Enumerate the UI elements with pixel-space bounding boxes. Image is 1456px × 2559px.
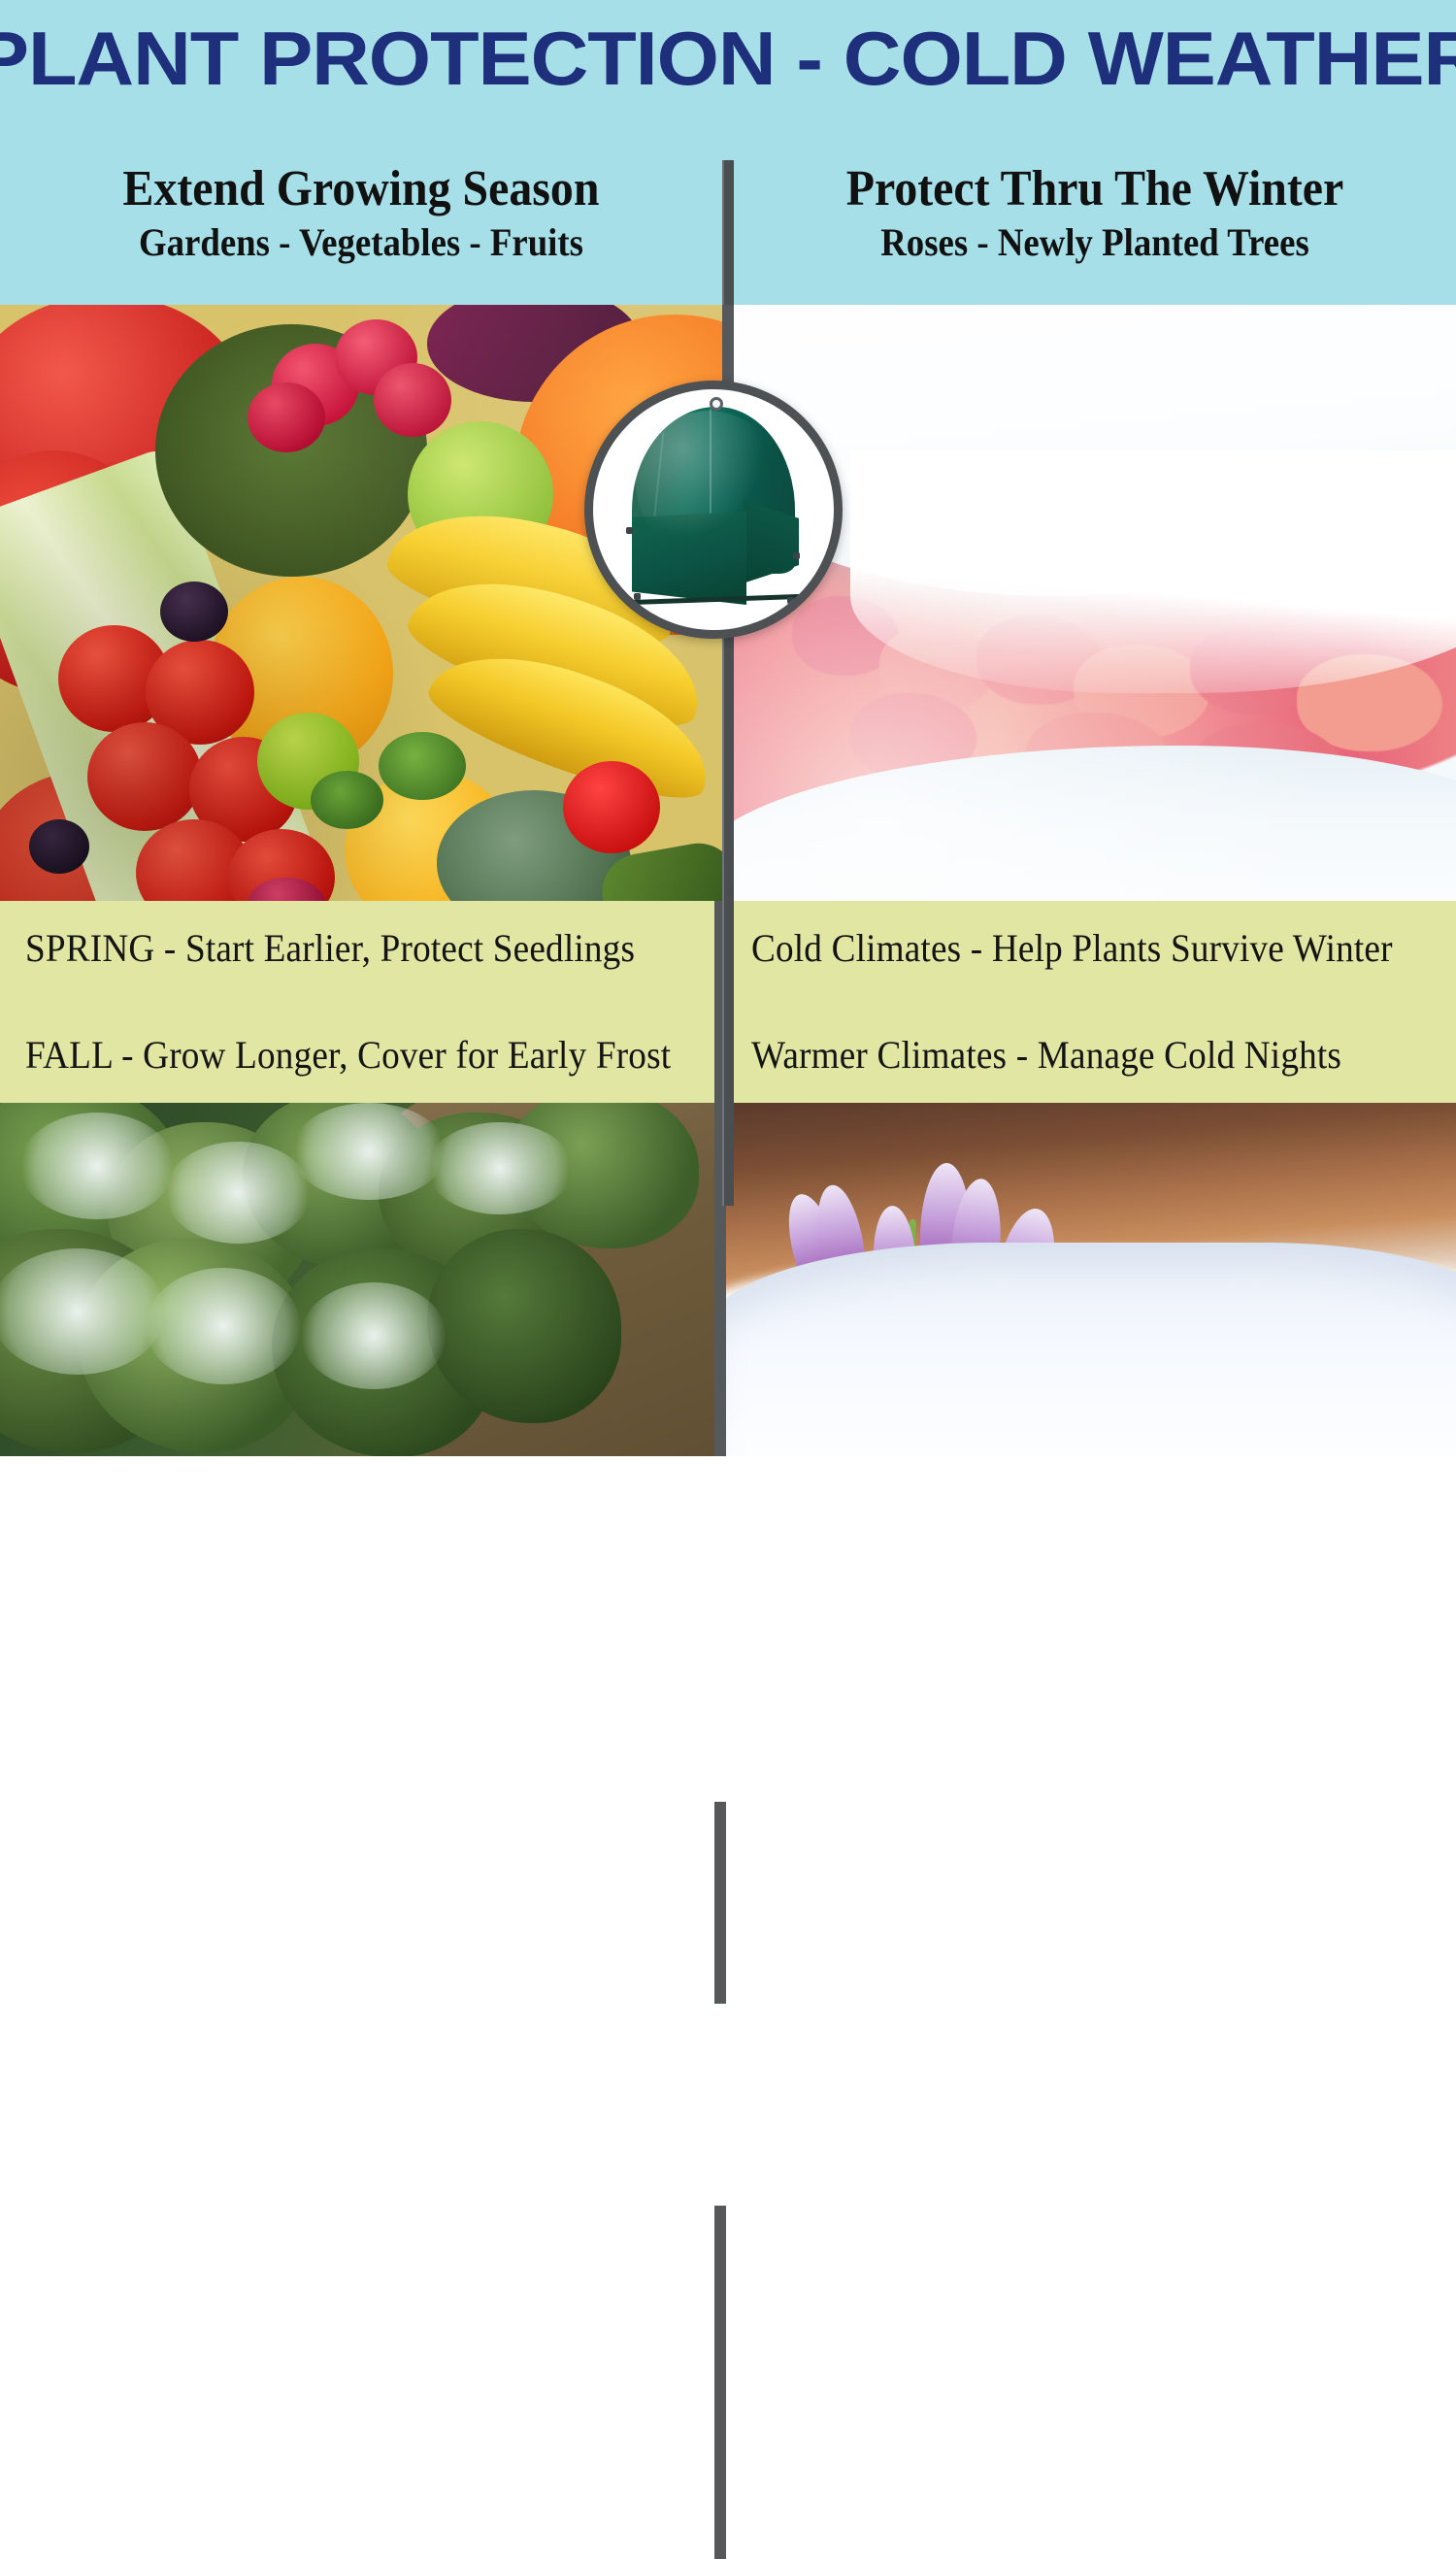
benefit-band-divider — [714, 1802, 726, 2004]
header-column-left: Extend Growing Season Gardens - Vegetabl… — [0, 161, 722, 266]
frost-cabbage-scene — [0, 1103, 714, 1456]
photo-frost-cabbage — [0, 1103, 714, 1456]
crocus-snow-scene — [726, 1103, 1456, 1456]
produce-collage — [0, 305, 722, 901]
header-left-heading: Extend Growing Season — [29, 161, 693, 217]
header-right-heading: Protect Thru The Winter — [763, 161, 1427, 217]
header-band: PLANT PROTECTION - COLD WEATHER Extend G… — [0, 0, 1456, 305]
header-left-subheading: Gardens - Vegetables - Fruits — [29, 219, 693, 266]
plant-cover-tent-icon — [616, 407, 811, 601]
photo-snow-hydrangea — [734, 305, 1456, 901]
header-vertical-divider — [722, 160, 734, 305]
bottom-vertical-divider — [714, 2206, 726, 2559]
photo-crocus-snow — [726, 1103, 1456, 1456]
benefit-right-line-2: Warmer Climates - Manage Cold Nights — [751, 1033, 1383, 1078]
benefit-column-right: Cold Climates - Help Plants Survive Wint… — [726, 901, 1456, 1103]
hanging-ring-icon — [710, 397, 723, 411]
header-right-subheading: Roses - Newly Planted Trees — [763, 219, 1427, 266]
top-vertical-divider — [722, 610, 734, 1206]
benefit-column-left: SPRING - Start Earlier, Protect Seedling… — [0, 901, 714, 1103]
hydrangea-scene — [734, 305, 1456, 901]
product-inset-circle — [584, 381, 843, 639]
photo-fresh-produce — [0, 305, 722, 901]
header-column-right: Protect Thru The Winter Roses - Newly Pl… — [734, 161, 1456, 266]
page-title: PLANT PROTECTION - COLD WEATHER — [0, 19, 1456, 99]
infographic-page: PLANT PROTECTION - COLD WEATHER Extend G… — [0, 0, 1456, 1456]
benefit-left-line-2: FALL - Grow Longer, Cover for Early Fros… — [25, 1033, 643, 1078]
benefit-left-line-1: SPRING - Start Earlier, Protect Seedling… — [25, 926, 643, 971]
benefit-right-line-1: Cold Climates - Help Plants Survive Wint… — [751, 926, 1383, 971]
